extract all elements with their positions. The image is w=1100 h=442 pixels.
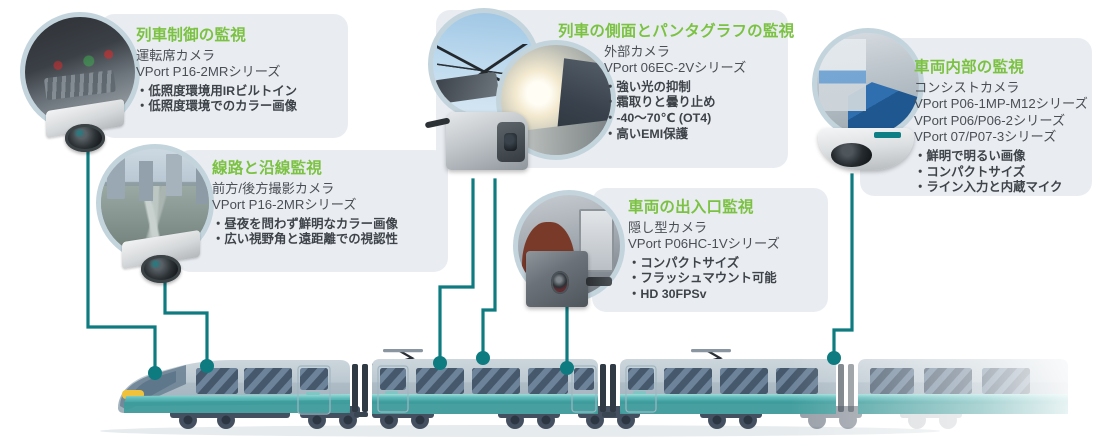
card-text-track-wayside: 線路と沿線監視 前方/後方撮影カメラ VPort P16-2MRシリーズ 昼夜を… (212, 159, 398, 248)
card-subtitle-line: VPort P06-1MP-M12シリーズ (914, 96, 1088, 113)
card-subtitle-line: 隠し型カメラ (628, 220, 780, 237)
card-subtitle-line: VPort P16-2MRシリーズ (212, 197, 398, 214)
card-title: 車両内部の監視 (914, 58, 1088, 78)
card-subtitle-line: VPort P16-2MRシリーズ (136, 64, 297, 81)
card-title: 列車制御の監視 (136, 26, 297, 46)
connector-trainside-left (440, 180, 473, 362)
card-text-trainside-pantograph: 列車の側面とパンタグラフの監視 外部カメラ VPort 06EC-2Vシリーズ … (558, 22, 794, 142)
dome-camera-device-1 (46, 105, 124, 153)
card-bullet: 強い光の抑制 (604, 80, 794, 96)
connector-interior (834, 175, 852, 357)
card-text-doorway: 車両の出入口監視 隠し型カメラ VPort P06HC-1Vシリーズ コンパクト… (628, 198, 780, 303)
card-bullets: 鮮明で明るい画像 コンパクトサイズ ライン入力と内蔵マイク (914, 149, 1088, 196)
card-bullet: コンパクトサイズ (628, 256, 780, 272)
carriage-interior-photo (812, 28, 924, 140)
box-camera-device (526, 251, 588, 307)
connector-dot-car3-door (560, 361, 574, 375)
card-bullet: フラッシュマウント可能 (628, 271, 780, 287)
card-subtitle-line: VPort 07/P07-3シリーズ (914, 129, 1088, 146)
infographic-root: 列車制御の監視 運転席カメラ VPort P16-2MRシリーズ 低照度環境用I… (0, 0, 1100, 442)
card-subtitle-line: VPort P06HC-1Vシリーズ (628, 236, 780, 253)
connector-dot-car2-pantograph (433, 356, 447, 370)
card-bullet: -40〜70℃ (OT4) (604, 111, 794, 127)
card-bullet: 霜取りと曇り止め (604, 95, 794, 111)
card-bullet: HD 30FPSv (628, 287, 780, 303)
card-subtitle-line: コンシストカメラ (914, 80, 1088, 97)
card-bullets: 昼夜を問わず鮮明なカラー画像 広い視野角と遠距離での視認性 (212, 217, 398, 248)
card-bullets: 低照度環境用IRビルトイン 低照度環境でのカラー画像 (136, 84, 297, 115)
card-subtitle-line: VPort 06EC-2Vシリーズ (604, 60, 794, 77)
card-subtitle-line: 前方/後方撮影カメラ (212, 181, 398, 198)
connector-dot-car4-roof (827, 351, 841, 365)
card-bullet: コンパクトサイズ (914, 165, 1088, 181)
card-subtitle-line: 外部カメラ (604, 44, 794, 61)
connector-trainside-right (483, 180, 495, 357)
connector-track-wayside (165, 280, 207, 365)
card-title: 列車の側面とパンタグラフの監視 (558, 22, 794, 42)
card-body: 外部カメラ VPort 06EC-2Vシリーズ 強い光の抑制 霜取りと曇り止め … (558, 44, 794, 143)
card-title: 車両の出入口監視 (628, 198, 780, 218)
card-text-carriage-interior: 車両内部の監視 コンシストカメラ VPort P06-1MP-M12シリーズ V… (914, 58, 1088, 196)
card-bullet: 昼夜を問わず鮮明なカラー画像 (212, 217, 398, 233)
card-bullet: 高いEMI保護 (604, 127, 794, 143)
card-subtitle-line: 運転席カメラ (136, 48, 297, 65)
card-text-train-control: 列車制御の監視 運転席カメラ VPort P16-2MRシリーズ 低照度環境用I… (136, 26, 297, 115)
card-title: 線路と沿線監視 (212, 159, 398, 179)
connector-dot-car1-front (200, 359, 214, 373)
card-subtitle-line: VPort P06/P06-2シリーズ (914, 113, 1088, 130)
card-bullets: コンパクトサイズ フラッシュマウント可能 HD 30FPSv (628, 256, 780, 303)
card-bullet: ライン入力と内蔵マイク (914, 180, 1088, 196)
card-bullet: 広い視野角と遠距離での視認性 (212, 232, 398, 248)
card-bullet: 鮮明で明るい画像 (914, 149, 1088, 165)
low-profile-dome-camera-device (818, 128, 914, 170)
card-bullet: 低照度環境でのカラー画像 (136, 99, 297, 115)
connector-dot-car2-roof (476, 351, 490, 365)
connector-dot-car1-nose (148, 366, 162, 380)
card-bullets: 強い光の抑制 霜取りと曇り止め -40〜70℃ (OT4) 高いEMI保護 (604, 80, 794, 143)
hooded-camera-device (446, 112, 528, 170)
card-bullet: 低照度環境用IRビルトイン (136, 84, 297, 100)
dome-camera-device-2 (122, 236, 200, 284)
